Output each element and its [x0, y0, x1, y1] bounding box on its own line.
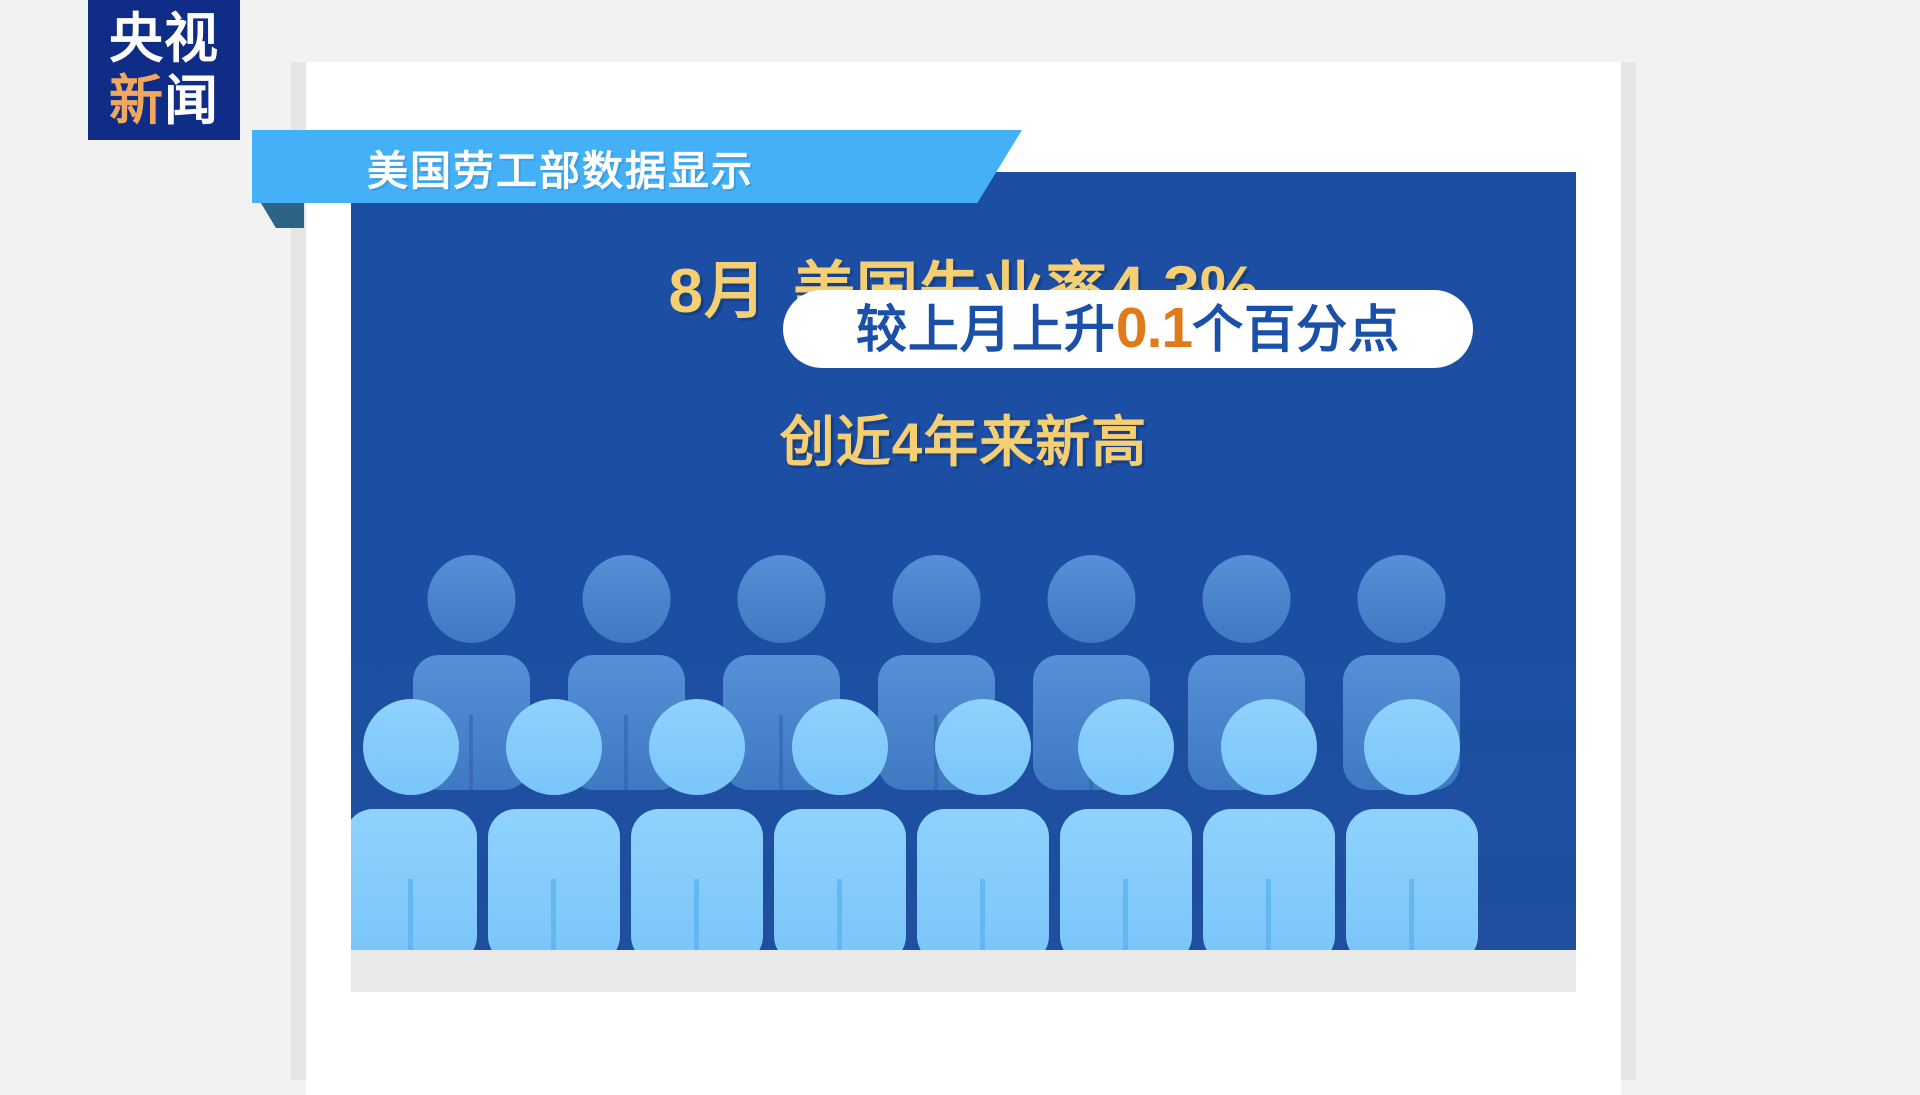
person-icon-front-2: [484, 699, 624, 950]
cctv-news-logo: 央视 新闻: [88, 0, 240, 140]
banner-label: 美国劳工部数据显示: [367, 137, 754, 197]
infographic-panel: 8月美国失业率4.3% 较上月上升0.1个百分点 创近4年来新高: [351, 172, 1576, 950]
pill-suffix: 个百分点: [1192, 301, 1400, 358]
people-pictogram-group: [351, 530, 1576, 950]
person-icon-front-6: [1056, 699, 1196, 950]
person-icon-front-5: [913, 699, 1053, 950]
person-icon-front-7: [1199, 699, 1339, 950]
person-icon-front-3: [627, 699, 767, 950]
pill-number: 0.1: [1116, 296, 1192, 360]
page-edge-right: [1621, 62, 1636, 1080]
logo-char-xin: 新: [109, 71, 164, 131]
infographic-screen: 央视 新闻 8月美国失业率4.3% 较上月上升0.1个百分点 创近4年来新高: [0, 0, 1920, 1080]
panel-baseline-band: [351, 950, 1576, 992]
person-icon-front-1: [351, 699, 481, 950]
logo-char-wen: 闻: [164, 71, 219, 131]
person-icon-front-4: [770, 699, 910, 950]
logo-line-xinwen: 新闻: [109, 70, 219, 132]
source-banner: 美国劳工部数据显示: [252, 130, 1022, 203]
logo-line-yangshi: 央视: [109, 8, 219, 70]
headline-month: 8月: [669, 257, 767, 326]
pill-text: 较上月上升0.1个百分点: [856, 300, 1400, 358]
banner-body: 美国劳工部数据显示: [252, 130, 1022, 203]
highlight-pill: 较上月上升0.1个百分点: [783, 290, 1473, 368]
subline: 创近4年来新高: [351, 397, 1576, 477]
pill-prefix: 较上月上升: [856, 301, 1116, 358]
paper-sheet-lower: [306, 1035, 1621, 1095]
person-icon-front-8: [1342, 699, 1482, 950]
